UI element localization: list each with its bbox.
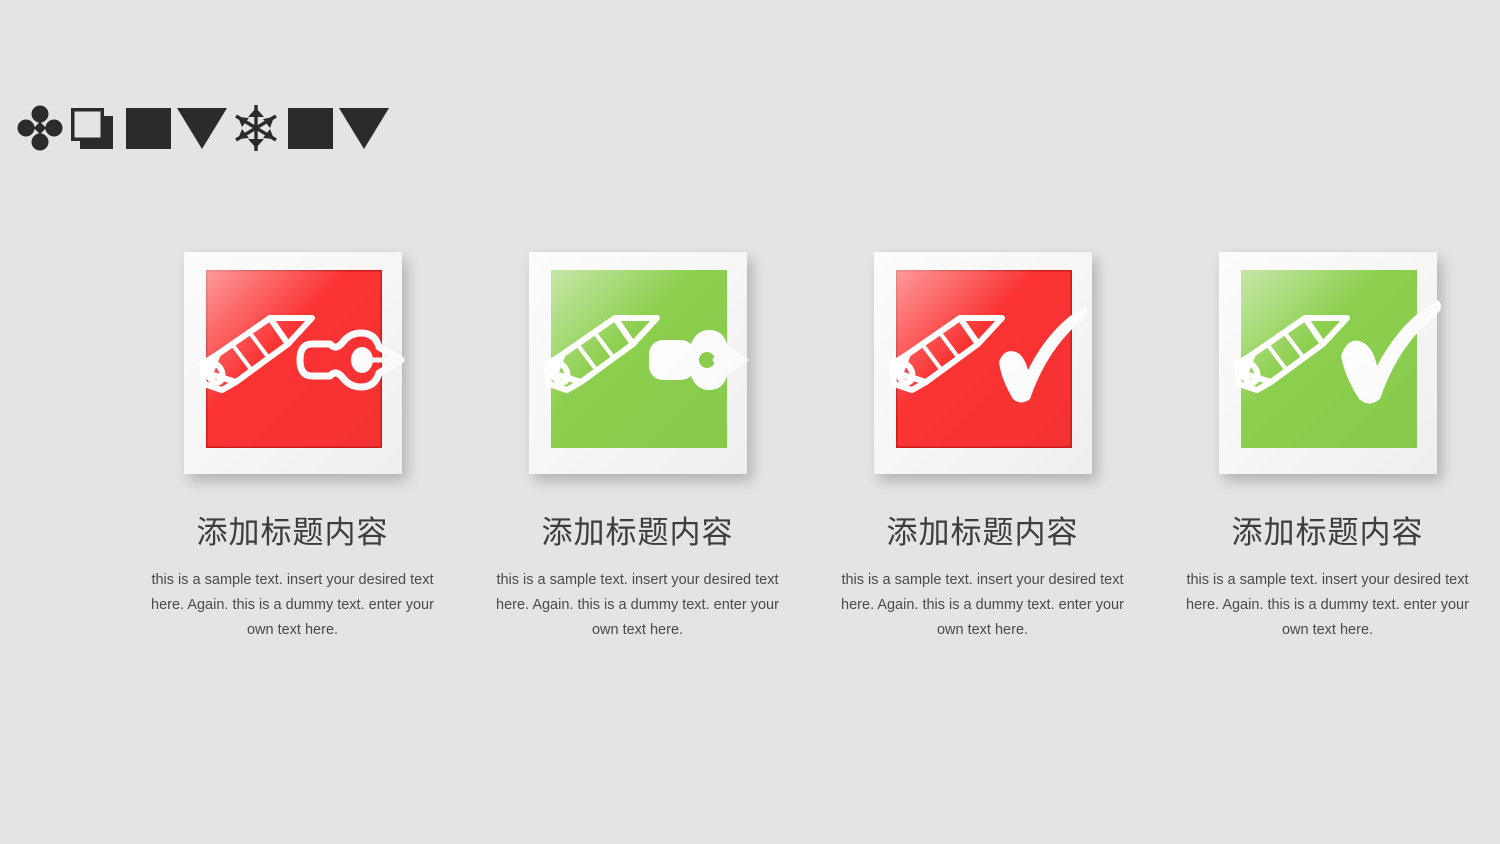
header-glyph-strip <box>14 92 390 164</box>
color-swatch-4 <box>1241 270 1417 448</box>
down-triangle-icon <box>338 100 390 156</box>
card-title: 添加标题内容 <box>887 516 1079 550</box>
down-triangle-icon <box>176 100 228 156</box>
color-swatch-2 <box>551 270 727 448</box>
card-body: this is a sample text. insert your desir… <box>1184 568 1472 643</box>
card-3[interactable]: 添加标题内容 this is a sample text. insert you… <box>810 252 1155 643</box>
card-4[interactable]: 添加标题内容 this is a sample text. insert you… <box>1155 252 1500 643</box>
pencil-icon <box>202 318 312 390</box>
clover-four-petal-icon <box>14 100 66 156</box>
copy-squares-icon <box>68 100 120 156</box>
photo-frame-1[interactable] <box>184 252 402 474</box>
card-title: 添加标题内容 <box>1232 516 1424 550</box>
card-body: this is a sample text. insert your desir… <box>149 568 437 643</box>
card-body: this is a sample text. insert your desir… <box>839 568 1127 643</box>
color-swatch-1 <box>206 270 382 448</box>
checkmark-icon <box>1341 300 1441 404</box>
color-swatch-3 <box>896 270 1072 448</box>
photo-frame-4[interactable] <box>1219 252 1437 474</box>
card-body: this is a sample text. insert your desir… <box>494 568 782 643</box>
snowflake-icon <box>230 100 282 156</box>
photo-frame-3[interactable] <box>874 252 1092 474</box>
filled-square-icon <box>284 100 336 156</box>
photo-frame-2[interactable] <box>529 252 747 474</box>
pencil-icon <box>892 318 1002 390</box>
pencil-icon <box>547 318 657 390</box>
pencil-icon <box>1237 318 1347 390</box>
checkmark-icon <box>999 306 1088 403</box>
card-row: 添加标题内容 this is a sample text. insert you… <box>0 252 1500 643</box>
pen-nib-outline-icon <box>300 333 401 387</box>
card-title: 添加标题内容 <box>197 516 389 550</box>
card-title: 添加标题内容 <box>542 516 734 550</box>
card-1[interactable]: 添加标题内容 this is a sample text. insert you… <box>120 252 465 643</box>
card-2[interactable]: 添加标题内容 this is a sample text. insert you… <box>465 252 810 643</box>
filled-square-icon <box>122 100 174 156</box>
